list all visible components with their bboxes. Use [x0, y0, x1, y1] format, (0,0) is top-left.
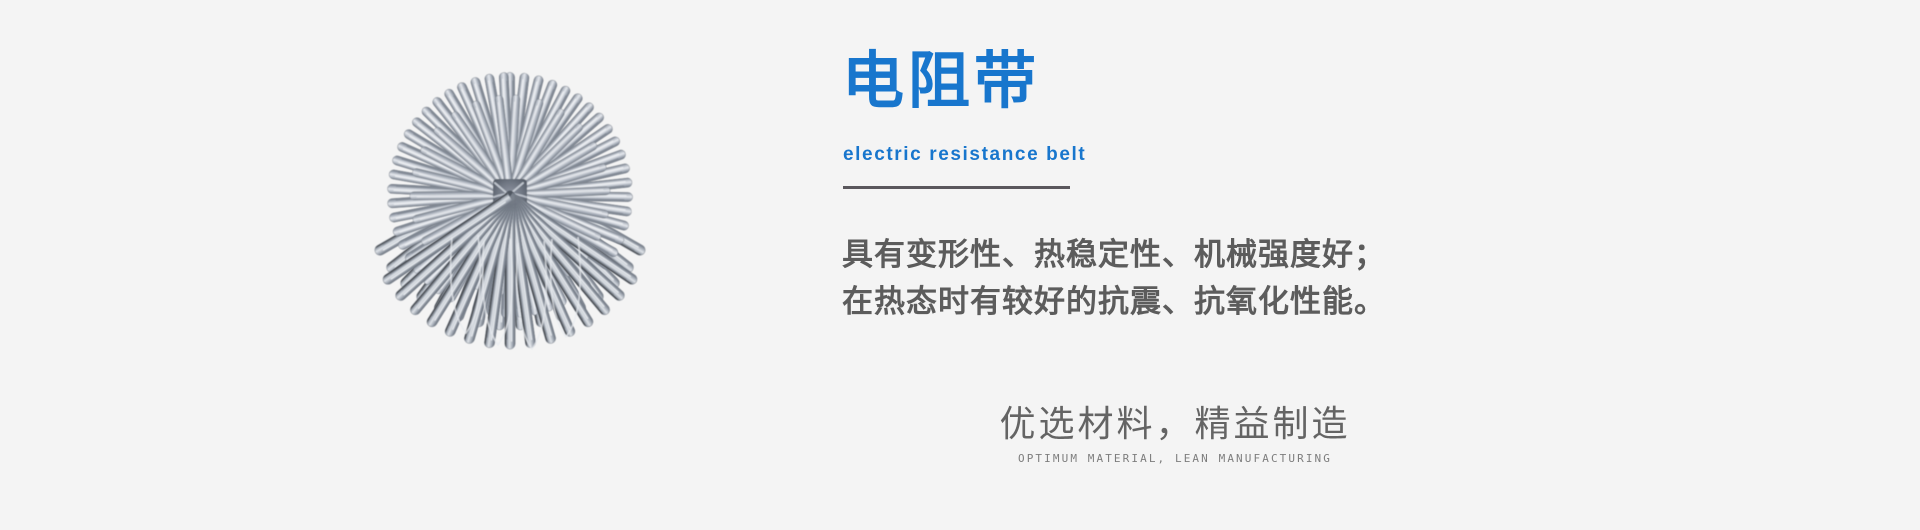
tagline-english: OPTIMUM MATERIAL, LEAN MANUFACTURING: [955, 452, 1395, 465]
description-line-2: 在热态时有较好的抗震、抗氧化性能。: [842, 279, 1386, 326]
banner-text-column: 电阻带 electric resistance belt 具有变形性、热稳定性、…: [840, 0, 1840, 530]
page-title: 电阻带: [842, 46, 1040, 116]
resistance-belt-burst-illustration: [300, 45, 720, 445]
page-subtitle-english: electric resistance belt: [843, 144, 1086, 166]
product-image: [300, 45, 720, 445]
tagline: 优选材料，精益制造 OPTIMUM MATERIAL, LEAN MANUFAC…: [955, 404, 1395, 465]
product-banner: 电阻带 electric resistance belt 具有变形性、热稳定性、…: [0, 0, 1920, 530]
product-description: 具有变形性、热稳定性、机械强度好； 在热态时有较好的抗震、抗氧化性能。: [842, 232, 1386, 326]
tagline-chinese: 优选材料，精益制造: [955, 404, 1395, 446]
title-divider: [843, 186, 1070, 189]
description-line-1: 具有变形性、热稳定性、机械强度好；: [842, 232, 1386, 279]
